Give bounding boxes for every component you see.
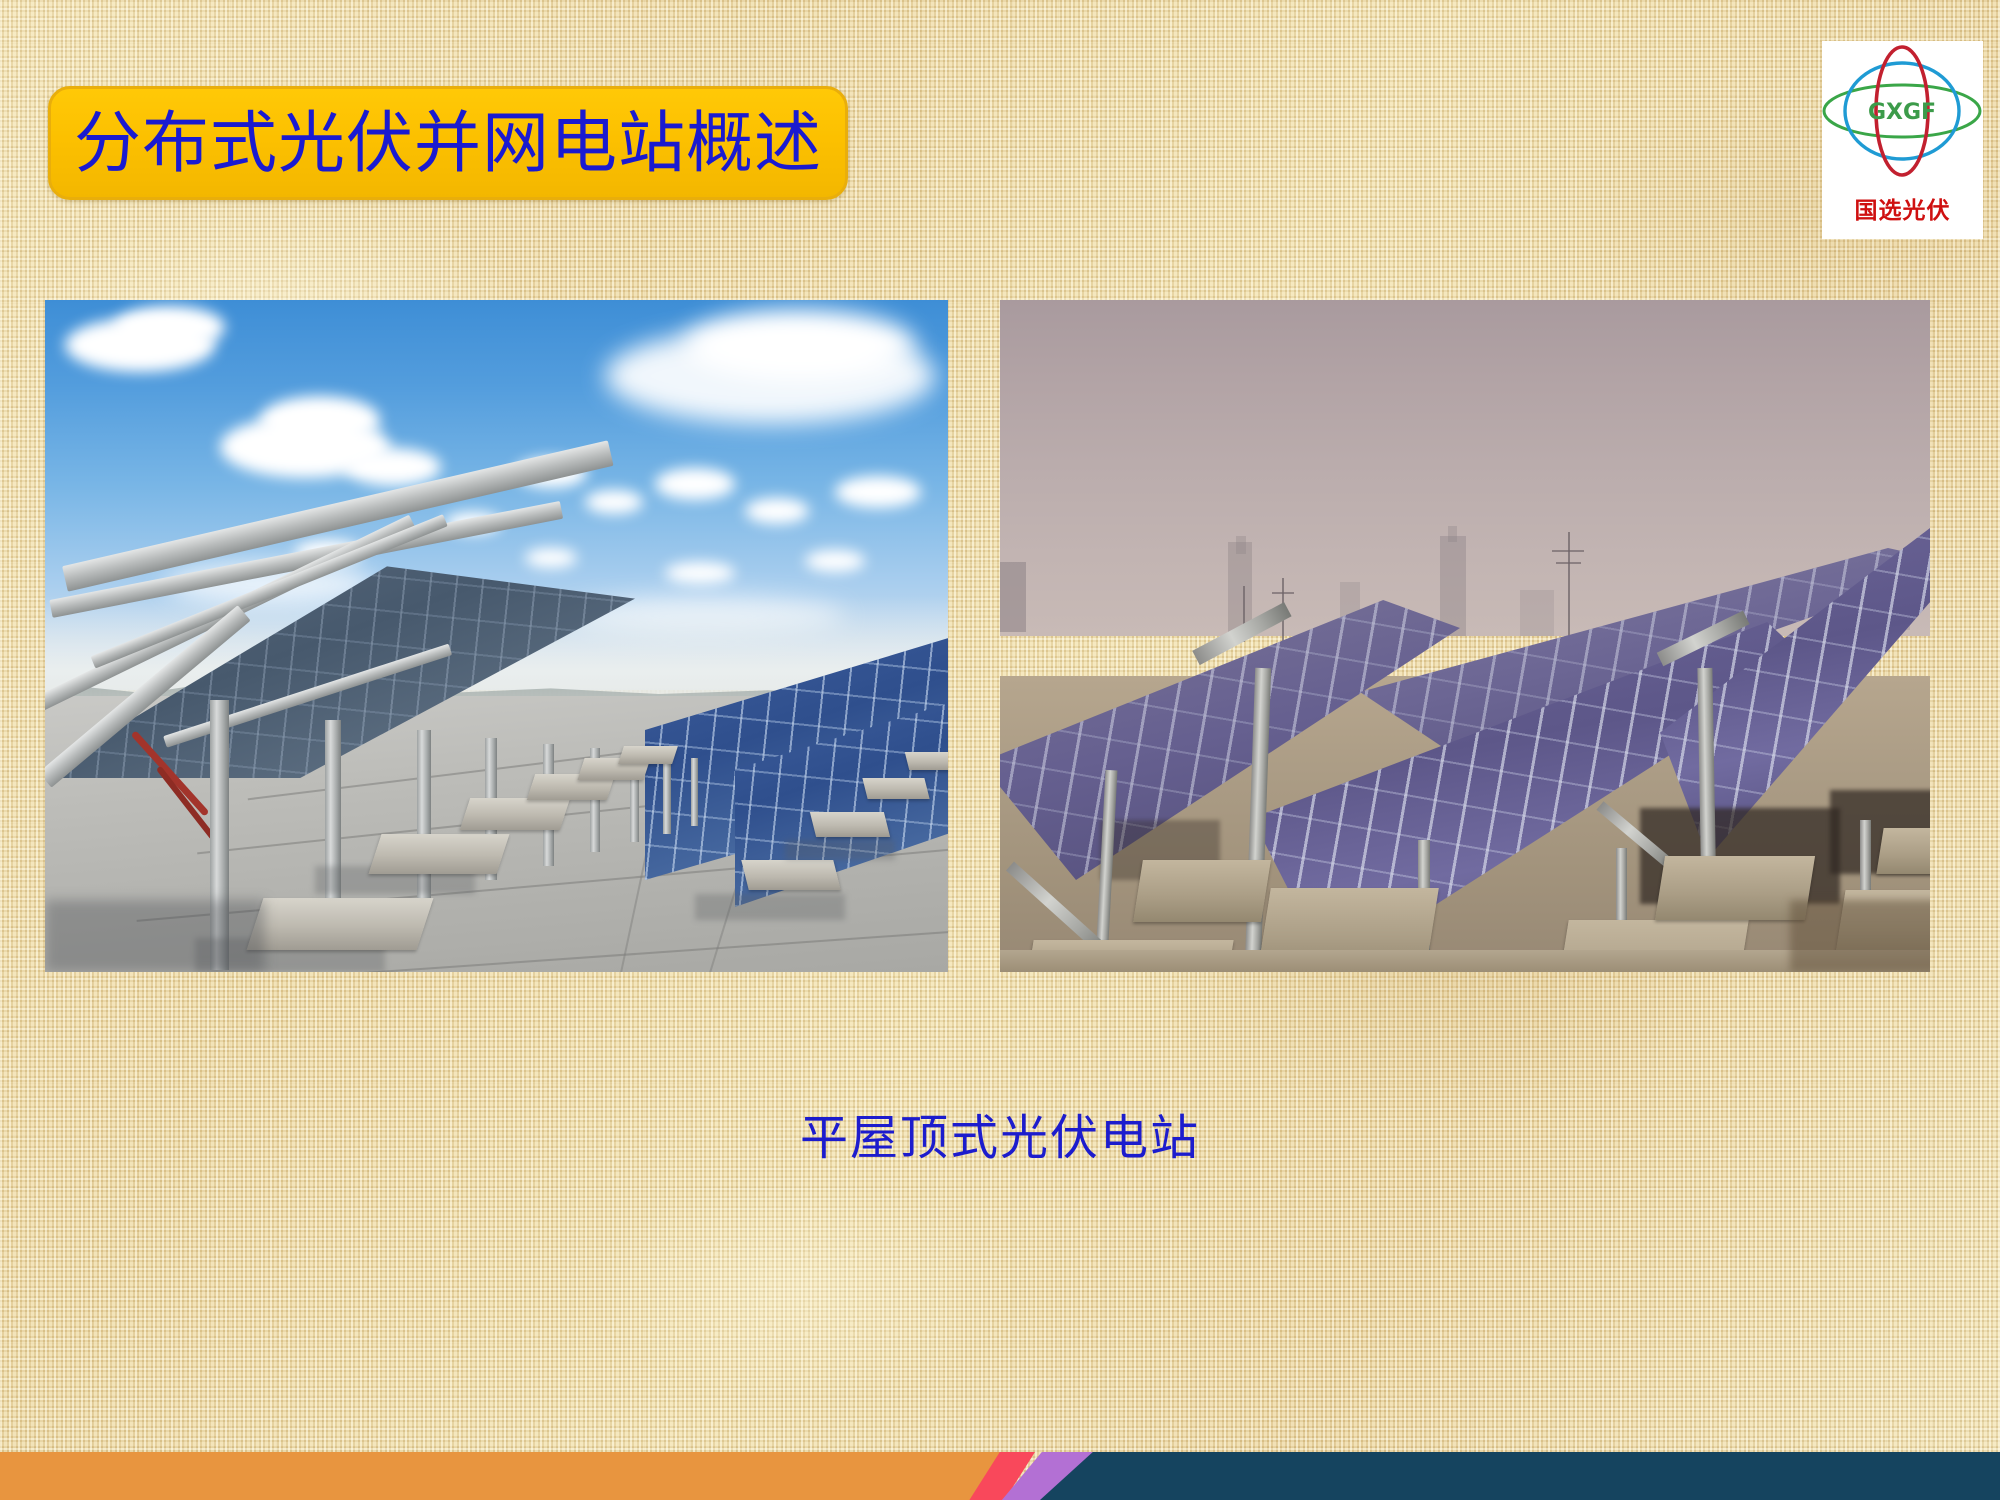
bar-segment-orange <box>0 1452 1010 1500</box>
photo-flat-roof-pv-hazy-city <box>1000 300 1930 972</box>
logo-acronym: GXGF <box>1868 100 1936 125</box>
logo-company-name: 国选光伏 <box>1822 191 1983 225</box>
company-logo: GXGF 国选光伏 <box>1822 41 1983 239</box>
globe-ellipses-icon: GXGF <box>1822 45 1983 185</box>
slide-title-banner: 分布式光伏并网电站概述 <box>48 86 848 200</box>
bottom-decorative-bar <box>0 1452 2000 1500</box>
page-title: 分布式光伏并网电站概述 <box>74 110 822 177</box>
presentation-slide: 分布式光伏并网电站概述 GXGF 国选光伏 <box>0 0 2000 1500</box>
photo-caption: 平屋顶式光伏电站 <box>0 1098 2000 1168</box>
bar-segment-navy <box>1040 1452 2000 1500</box>
photo-flat-roof-pv-blue-sky <box>45 300 948 972</box>
